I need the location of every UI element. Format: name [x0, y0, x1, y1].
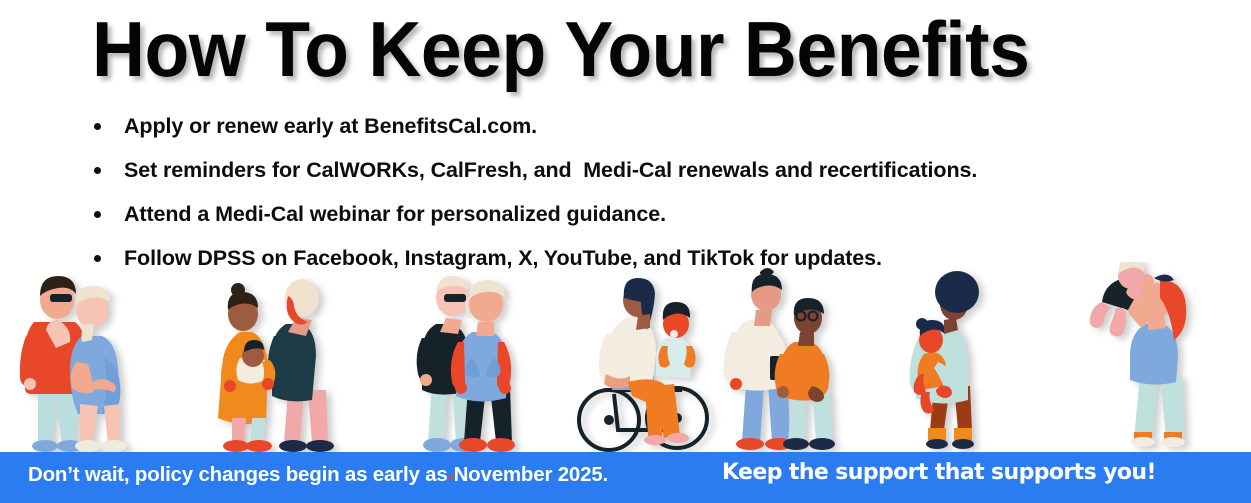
bullet-dot-icon	[94, 211, 101, 218]
bottom-banner: Don’t wait, policy changes begin as earl…	[0, 452, 1251, 503]
bullet-list: Apply or renew early at BenefitsCal.com.…	[92, 104, 1212, 280]
list-item-label: Set reminders for CalWORKs, CalFresh, an…	[124, 157, 977, 183]
list-item-label: Attend a Medi-Cal webinar for personaliz…	[124, 201, 666, 227]
bullet-dot-icon	[94, 255, 101, 262]
figure-group-family-with-newborn	[218, 279, 334, 452]
banner-left-text-part-b: November 2025.	[454, 463, 608, 486]
figure-group-couple-expecting	[20, 276, 127, 452]
list-item: Attend a Medi-Cal webinar for personaliz…	[92, 192, 1212, 236]
list-item: Set reminders for CalWORKs, CalFresh, an…	[92, 148, 1212, 192]
figure-group-parent-lifting-baby	[1090, 262, 1187, 447]
poster-root: How To Keep Your Benefits Apply or renew…	[0, 0, 1251, 503]
bullet-dot-icon	[94, 123, 101, 130]
banner-right-text: Keep the support that supports you!	[722, 460, 1156, 485]
page-title: How To Keep Your Benefits	[92, 6, 1029, 92]
banner-left-text: Don’t wait, policy changes begin as earl…	[28, 463, 608, 487]
figure-group-parent-and-teen-with-phone	[724, 268, 835, 450]
banner-accent-dot-icon	[449, 475, 453, 479]
illustration-band	[0, 262, 1251, 453]
figure-group-mother-and-toddler	[910, 271, 979, 449]
bullet-dot-icon	[94, 167, 101, 174]
list-item-label: Apply or renew early at BenefitsCal.com.	[124, 113, 537, 139]
banner-left-text-part-a: Don’t wait, policy changes begin as earl…	[28, 463, 448, 486]
list-item: Apply or renew early at BenefitsCal.com.	[92, 104, 1212, 148]
figure-group-wheelchair-parent-and-child	[579, 278, 707, 450]
figure-group-senior-couple	[417, 276, 515, 452]
